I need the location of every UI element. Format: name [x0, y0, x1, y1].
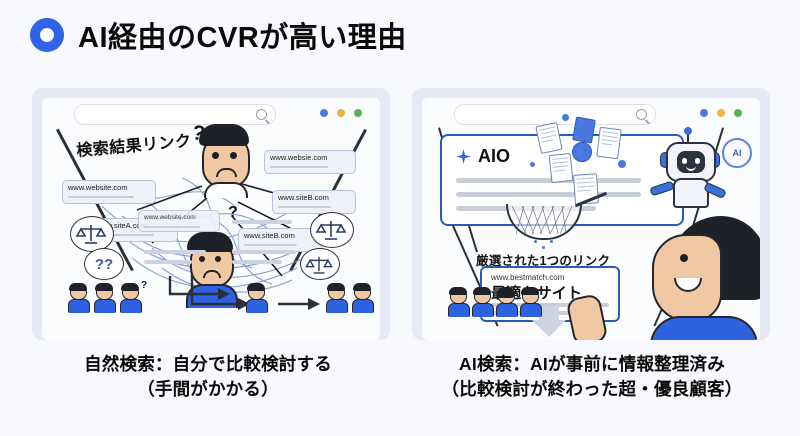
person-figure [68, 284, 88, 313]
document-icon [596, 127, 621, 159]
robot-face [677, 151, 705, 173]
person-figure [352, 284, 372, 313]
question-mark-icon: ? [141, 280, 147, 291]
page-header: AI経由のCVRが高い理由 [30, 14, 407, 56]
arrow-head [308, 298, 320, 310]
ai-badge-icon: AI [722, 138, 752, 168]
window-dot-yellow [717, 109, 725, 117]
robot-smile [686, 164, 696, 171]
ai-search-panel: AIO [412, 88, 770, 340]
right-caption-line1: AI検索：AIが事前に情報整理済み [402, 352, 782, 377]
person-figure [94, 284, 114, 313]
page-title: AI経由のCVRが高い理由 [78, 14, 407, 56]
dot-accent [618, 160, 626, 168]
window-dot-green [734, 109, 742, 117]
dot-accent [534, 240, 537, 243]
happy-customer-icon [654, 216, 760, 340]
right-caption-line2: （比較検討が終わった超・優良顧客） [402, 377, 782, 402]
dot-accent [550, 240, 553, 243]
left-caption: 自然検索：自分で比較検討する （手間がかかる） [18, 352, 398, 403]
pie-chart-icon [572, 142, 592, 162]
aio-label: AIO [478, 146, 510, 167]
person-figure [120, 284, 140, 313]
search-icon [636, 109, 647, 120]
down-arrow-icon [532, 320, 566, 337]
organic-search-panel: 検索結果リンク ? [32, 88, 390, 340]
dot-accent [530, 162, 535, 167]
document-icon [549, 153, 574, 183]
sparkle-icon [456, 149, 471, 164]
slide-root: AI経由のCVRが高い理由 検索結果リンク ? [0, 0, 800, 436]
blue-ring-icon [30, 18, 64, 52]
left-caption-line1: 自然検索：自分で比較検討する [18, 352, 398, 377]
robot-head [666, 142, 716, 182]
person-figure [472, 288, 492, 317]
arrow-head [218, 288, 230, 300]
torso [650, 316, 758, 340]
text-line [456, 192, 641, 197]
dot-accent [562, 114, 569, 121]
dot-accent [542, 246, 545, 249]
best-match-url: www.bestmatch.com [491, 273, 564, 282]
document-icon [572, 116, 596, 143]
robot-icon [662, 132, 718, 204]
left-caption-line2: （手間がかかる） [18, 377, 398, 402]
robot-body [673, 178, 709, 208]
right-window-dots [700, 109, 742, 117]
right-caption: AI検索：AIが事前に情報整理済み （比較検討が終わった超・優良顧客） [402, 352, 782, 403]
window-dot-blue [700, 109, 708, 117]
person-figure [448, 288, 468, 317]
aio-title: AIO [456, 146, 510, 167]
sieve-mesh [508, 204, 576, 236]
person-figure [326, 284, 346, 313]
sieve-icon [506, 204, 582, 240]
eye [680, 254, 688, 262]
right-browser-screen: AIO [422, 98, 760, 340]
person-figure [496, 288, 516, 317]
person-figure [246, 284, 266, 313]
left-browser-screen: 検索結果リンク ? [42, 98, 380, 340]
text-line [456, 178, 641, 183]
person-figure [520, 288, 540, 317]
